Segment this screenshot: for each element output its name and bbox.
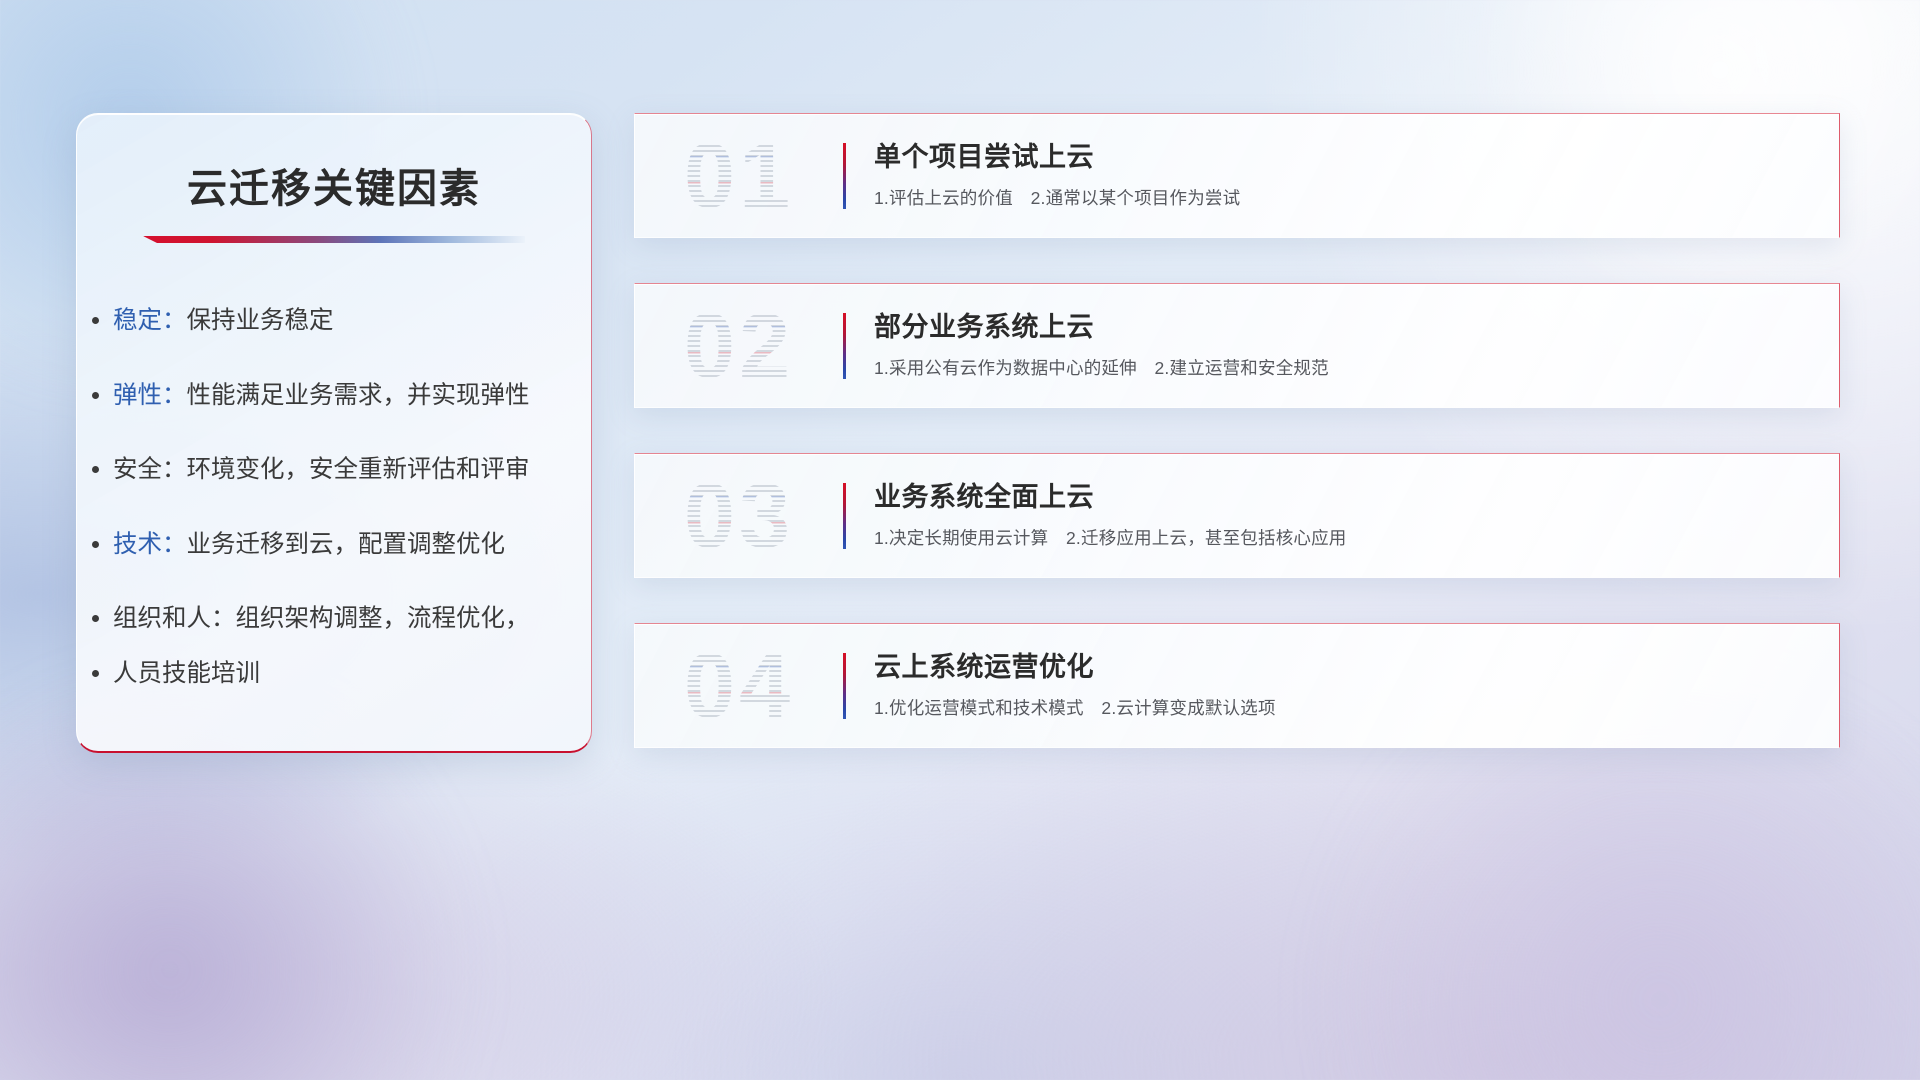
ghost-number-glyph: 02	[684, 300, 794, 392]
accent-divider-icon	[843, 653, 846, 719]
title-underline-accent	[143, 236, 525, 243]
stage-card-title: 单个项目尝试上云	[874, 141, 1813, 175]
stage-card-text: 部分业务系统上云 1.采用公有云作为数据中心的延伸 2.建立运营和安全规范	[874, 311, 1839, 380]
stage-card-description: 1.采用公有云作为数据中心的延伸 2.建立运营和安全规范	[874, 355, 1813, 380]
factor-key: 弹性：	[113, 382, 187, 409]
factor-value: 人员技能培训	[113, 660, 260, 687]
stage-card-title: 业务系统全面上云	[874, 481, 1813, 515]
stage-card-text: 业务系统全面上云 1.决定长期使用云计算 2.迁移应用上云，甚至包括核心应用	[874, 481, 1839, 550]
list-item: 技术：业务迁移到云，配置调整优化	[113, 533, 591, 558]
factor-key: 组织和人：	[113, 605, 236, 632]
stage-card-title: 云上系统运营优化	[874, 651, 1813, 685]
accent-divider-icon	[843, 143, 846, 209]
ghost-number-glyph: 03	[684, 470, 794, 562]
factor-value: 业务迁移到云，配置调整优化	[187, 531, 506, 558]
page-title: 云迁移关键因素	[77, 156, 591, 214]
stage-card-description: 1.决定长期使用云计算 2.迁移应用上云，甚至包括核心应用	[874, 525, 1813, 550]
stage-card-04[interactable]: 04 云上系统运营优化 1.优化运营模式和技术模式 2.云计算变成默认选项	[634, 623, 1840, 748]
factor-value: 保持业务稳定	[187, 307, 334, 334]
stage-card-description: 1.优化运营模式和技术模式 2.云计算变成默认选项	[874, 695, 1813, 720]
factor-value: 环境变化，安全重新评估和评审	[187, 456, 530, 483]
factor-key: 稳定：	[113, 307, 187, 334]
stage-number-04: 04	[635, 623, 843, 748]
stage-number-01: 01	[635, 113, 843, 238]
factor-value: 性能满足业务需求，并实现弹性	[187, 382, 530, 409]
ghost-number-glyph: 04	[684, 640, 794, 732]
factor-value: 组织架构调整，流程优化，	[236, 605, 530, 632]
list-item: 稳定：保持业务稳定	[113, 309, 591, 334]
stage-card-text: 单个项目尝试上云 1.评估上云的价值 2.通常以某个项目作为尝试	[874, 141, 1839, 210]
accent-divider-icon	[843, 483, 846, 549]
stage-card-description: 1.评估上云的价值 2.通常以某个项目作为尝试	[874, 185, 1813, 210]
stage-number-02: 02	[635, 283, 843, 408]
stage-card-title: 部分业务系统上云	[874, 311, 1813, 345]
stage-card-02[interactable]: 02 部分业务系统上云 1.采用公有云作为数据中心的延伸 2.建立运营和安全规范	[634, 283, 1840, 408]
factor-key: 安全：	[113, 456, 187, 483]
list-item: 组织和人：组织架构调整，流程优化，	[113, 607, 591, 632]
ghost-number-glyph: 01	[684, 130, 794, 222]
key-factors-panel: 云迁移关键因素 稳定：保持业务稳定 弹性：性能满足业务需求，并实现弹性 安全：环…	[76, 113, 592, 753]
stage-card-text: 云上系统运营优化 1.优化运营模式和技术模式 2.云计算变成默认选项	[874, 651, 1839, 720]
list-item-continuation: 人员技能培训	[113, 662, 591, 687]
factor-key: 技术：	[113, 531, 187, 558]
stage-number-03: 03	[635, 453, 843, 578]
stage-card-01[interactable]: 01 单个项目尝试上云 1.评估上云的价值 2.通常以某个项目作为尝试	[634, 113, 1840, 238]
accent-divider-icon	[843, 313, 846, 379]
stage-card-list: 01 单个项目尝试上云 1.评估上云的价值 2.通常以某个项目作为尝试 02 部…	[634, 113, 1840, 748]
list-item: 安全：环境变化，安全重新评估和评审	[113, 458, 591, 483]
list-item: 弹性：性能满足业务需求，并实现弹性	[113, 384, 591, 409]
stage-card-03[interactable]: 03 业务系统全面上云 1.决定长期使用云计算 2.迁移应用上云，甚至包括核心应…	[634, 453, 1840, 578]
factor-list: 稳定：保持业务稳定 弹性：性能满足业务需求，并实现弹性 安全：环境变化，安全重新…	[113, 309, 591, 686]
